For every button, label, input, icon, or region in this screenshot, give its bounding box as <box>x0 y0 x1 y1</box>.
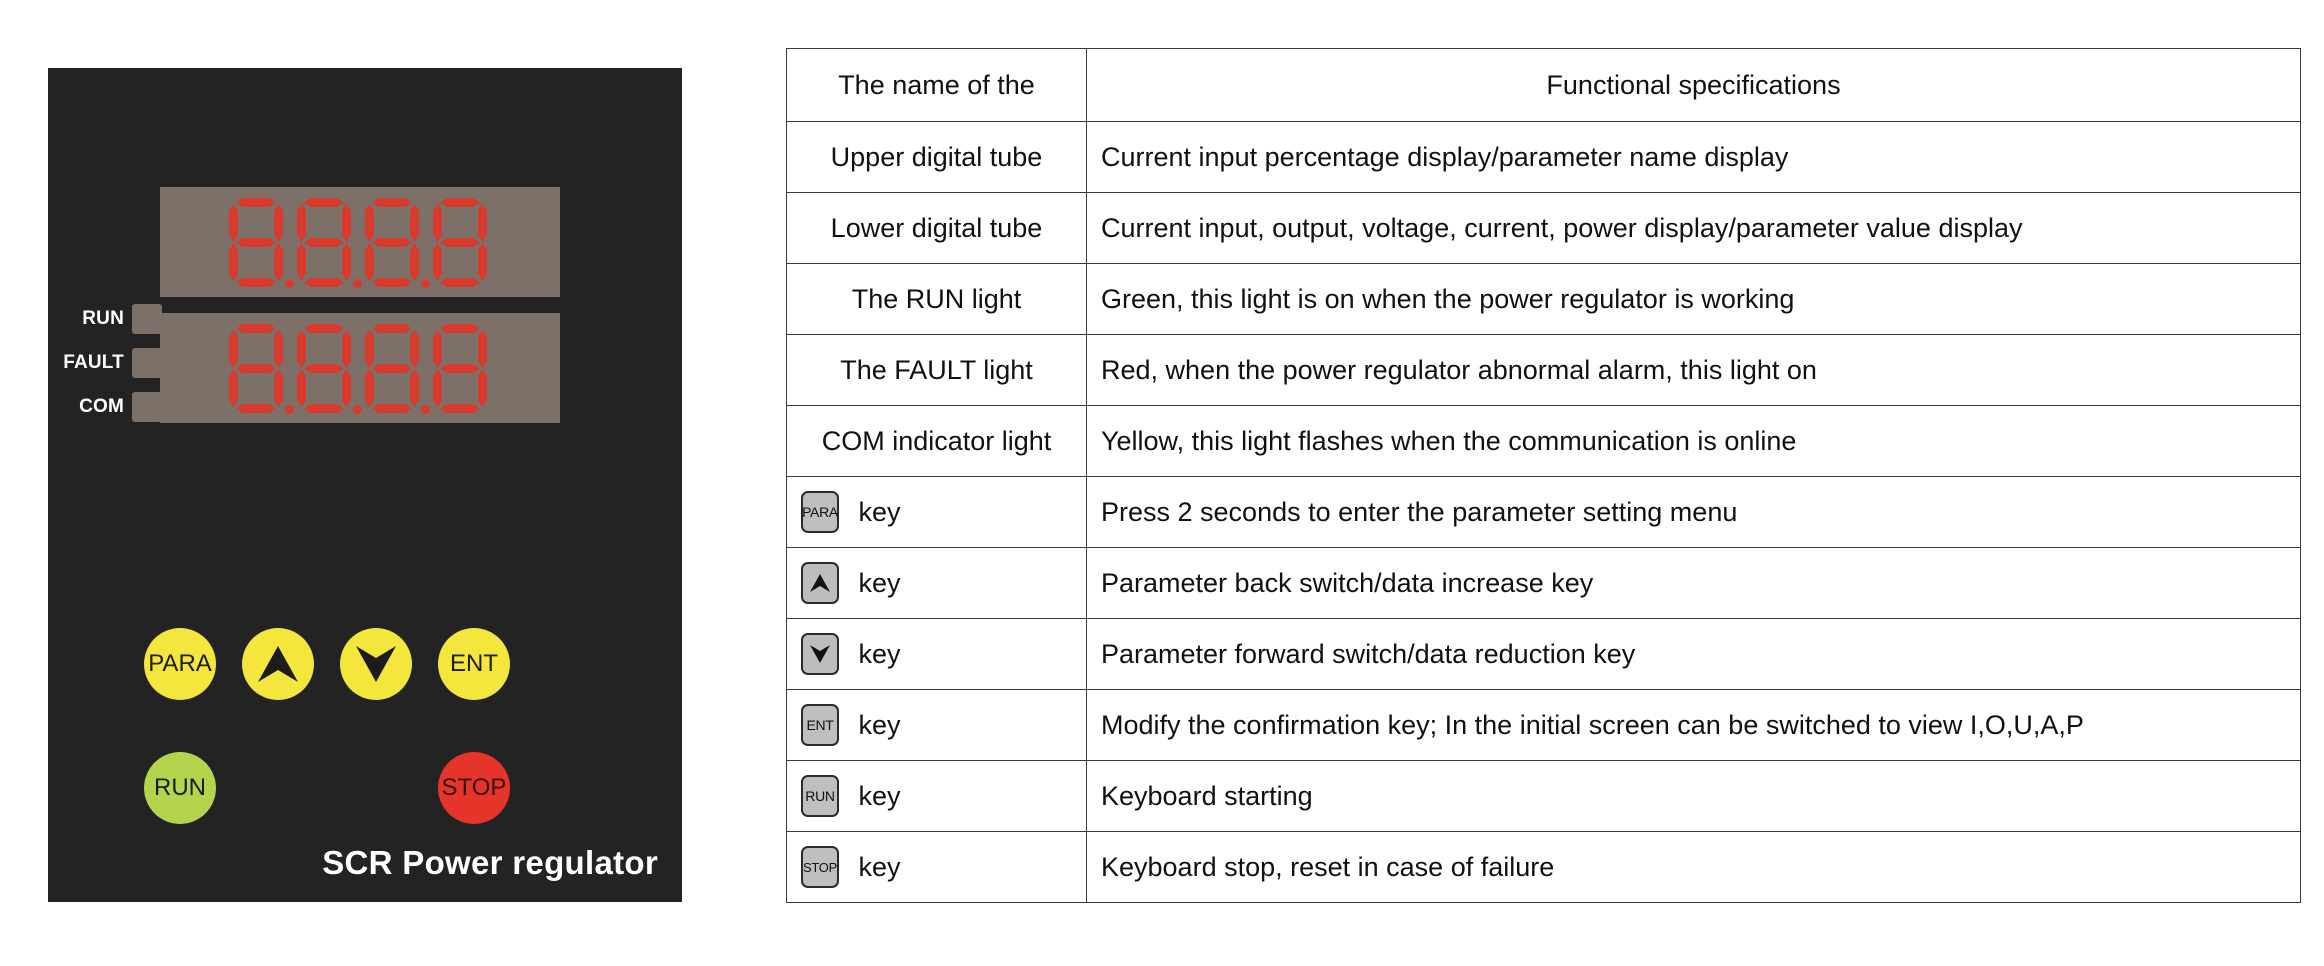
stop-button-label: STOP <box>442 774 507 802</box>
segment-g <box>304 364 344 373</box>
down-arrow-key-icon <box>801 633 839 675</box>
segment-d <box>440 278 480 287</box>
segment-f <box>297 204 306 242</box>
row-name: ENT key <box>787 690 1087 761</box>
segment-g <box>236 238 276 247</box>
header-name: The name of the <box>787 49 1087 122</box>
segment-g <box>304 238 344 247</box>
upper-digital-tube-display <box>160 187 560 297</box>
segment-d <box>304 404 344 413</box>
seven-segment-digit <box>361 196 427 288</box>
seven-segment-digit <box>225 322 291 414</box>
segment-a <box>372 198 412 207</box>
row-spec: Current input percentage display/paramet… <box>1087 122 2301 193</box>
functional-specifications-table: The name of the Functional specification… <box>786 48 2301 903</box>
segment-f <box>433 204 442 242</box>
table-row: The FAULT light Red, when the power regu… <box>787 335 2301 406</box>
table-row: Lower digital tube Current input, output… <box>787 193 2301 264</box>
segment-e <box>297 369 306 407</box>
stop-key-icon: STOP <box>801 846 839 888</box>
device-title: SCR Power regulator <box>322 844 658 882</box>
indicator-com-lamp <box>132 392 162 422</box>
run-button[interactable]: RUN <box>144 752 216 824</box>
segment-b <box>274 330 283 368</box>
row-key-suffix: key <box>859 852 901 882</box>
row-name: PARA key <box>787 477 1087 548</box>
table-header-row: The name of the Functional specification… <box>787 49 2301 122</box>
segment-g <box>440 364 480 373</box>
indicator-fault: FAULT <box>62 348 162 378</box>
segment-a <box>440 324 480 333</box>
row-spec: Red, when the power regulator abnormal a… <box>1087 335 2301 406</box>
segment-c <box>478 369 487 407</box>
up-arrow-key-icon <box>801 562 839 604</box>
segment-c <box>274 243 283 281</box>
segment-a <box>236 198 276 207</box>
para-key-icon: PARA <box>801 491 839 533</box>
row-spec: Press 2 seconds to enter the parameter s… <box>1087 477 2301 548</box>
segment-e <box>229 369 238 407</box>
down-arrow-button[interactable] <box>340 628 412 700</box>
segment-c <box>410 369 419 407</box>
segment-f <box>297 330 306 368</box>
segment-b <box>410 204 419 242</box>
segment-e <box>297 243 306 281</box>
para-button[interactable]: PARA <box>144 628 216 700</box>
table-row: key Parameter back switch/data increase … <box>787 548 2301 619</box>
row-key-suffix: key <box>859 568 901 598</box>
row-key-suffix: key <box>859 710 901 740</box>
indicator-run-lamp <box>132 304 162 334</box>
indicator-run-label: RUN <box>62 308 124 330</box>
run-key-icon: RUN <box>801 775 839 817</box>
segment-c <box>478 243 487 281</box>
seven-segment-digit <box>293 196 359 288</box>
row-name: STOP key <box>787 832 1087 903</box>
seven-segment-digit <box>293 322 359 414</box>
segment-g <box>372 364 412 373</box>
segment-g <box>236 364 276 373</box>
table-row: STOP key Keyboard stop, reset in case of… <box>787 832 2301 903</box>
segment-f <box>365 204 374 242</box>
segment-d <box>372 404 412 413</box>
row-name: The FAULT light <box>787 335 1087 406</box>
seven-segment-digit <box>225 196 291 288</box>
ent-button[interactable]: ENT <box>438 628 510 700</box>
row-name: COM indicator light <box>787 406 1087 477</box>
segment-c <box>274 369 283 407</box>
row-name: Upper digital tube <box>787 122 1087 193</box>
para-button-label: PARA <box>148 650 212 678</box>
device-front-panel: RUN FAULT COM PARA ENT RUN STOP SCR Powe… <box>48 68 682 902</box>
indicator-run: RUN <box>62 304 162 334</box>
table-row: PARA key Press 2 seconds to enter the pa… <box>787 477 2301 548</box>
segment-g <box>440 238 480 247</box>
row-name: Lower digital tube <box>787 193 1087 264</box>
segment-d <box>372 278 412 287</box>
lower-digital-tube-display <box>160 313 560 423</box>
table-row: RUN key Keyboard starting <box>787 761 2301 832</box>
table-row: key Parameter forward switch/data reduct… <box>787 619 2301 690</box>
indicator-fault-label: FAULT <box>62 352 124 374</box>
segment-e <box>433 369 442 407</box>
segment-f <box>433 330 442 368</box>
row-spec: Keyboard starting <box>1087 761 2301 832</box>
segment-b <box>478 330 487 368</box>
segment-a <box>304 324 344 333</box>
segment-d <box>236 278 276 287</box>
lower-digit-group <box>224 322 496 414</box>
ent-key-icon: ENT <box>801 704 839 746</box>
segment-b <box>342 330 351 368</box>
segment-d <box>236 404 276 413</box>
segment-a <box>236 324 276 333</box>
row-spec: Green, this light is on when the power r… <box>1087 264 2301 335</box>
segment-e <box>365 243 374 281</box>
seven-segment-digit <box>361 322 427 414</box>
row-spec: Keyboard stop, reset in case of failure <box>1087 832 2301 903</box>
segment-e <box>365 369 374 407</box>
segment-g <box>372 238 412 247</box>
segment-f <box>229 330 238 368</box>
segment-b <box>410 330 419 368</box>
segment-a <box>304 198 344 207</box>
segment-c <box>410 243 419 281</box>
segment-e <box>229 243 238 281</box>
table-row: The RUN light Green, this light is on wh… <box>787 264 2301 335</box>
row-name: key <box>787 619 1087 690</box>
row-spec: Parameter back switch/data increase key <box>1087 548 2301 619</box>
ent-button-label: ENT <box>450 650 498 678</box>
row-spec: Parameter forward switch/data reduction … <box>1087 619 2301 690</box>
seven-segment-digit <box>429 322 495 414</box>
segment-f <box>365 330 374 368</box>
row-key-suffix: key <box>859 781 901 811</box>
segment-c <box>342 243 351 281</box>
row-name: RUN key <box>787 761 1087 832</box>
segment-b <box>342 204 351 242</box>
up-chevron-icon <box>256 644 300 684</box>
row-spec: Modify the confirmation key; In the init… <box>1087 690 2301 761</box>
run-button-label: RUN <box>154 774 206 802</box>
table-row: ENT key Modify the confirmation key; In … <box>787 690 2301 761</box>
row-key-suffix: key <box>859 639 901 669</box>
segment-a <box>440 198 480 207</box>
segment-d <box>440 404 480 413</box>
row-spec: Current input, output, voltage, current,… <box>1087 193 2301 264</box>
stop-button[interactable]: STOP <box>438 752 510 824</box>
down-chevron-icon <box>354 644 398 684</box>
indicator-com-label: COM <box>62 396 124 418</box>
table-row: COM indicator light Yellow, this light f… <box>787 406 2301 477</box>
indicator-fault-lamp <box>132 348 162 378</box>
row-key-suffix: key <box>859 497 901 527</box>
table-row: Upper digital tube Current input percent… <box>787 122 2301 193</box>
row-name: key <box>787 548 1087 619</box>
segment-b <box>478 204 487 242</box>
segment-c <box>342 369 351 407</box>
segment-e <box>433 243 442 281</box>
indicator-com: COM <box>62 392 162 422</box>
row-name: The RUN light <box>787 264 1087 335</box>
segment-b <box>274 204 283 242</box>
up-arrow-button[interactable] <box>242 628 314 700</box>
upper-digit-group <box>224 196 496 288</box>
segment-f <box>229 204 238 242</box>
seven-segment-digit <box>429 196 495 288</box>
row-spec: Yellow, this light flashes when the comm… <box>1087 406 2301 477</box>
segment-d <box>304 278 344 287</box>
header-spec: Functional specifications <box>1087 49 2301 122</box>
segment-a <box>372 324 412 333</box>
